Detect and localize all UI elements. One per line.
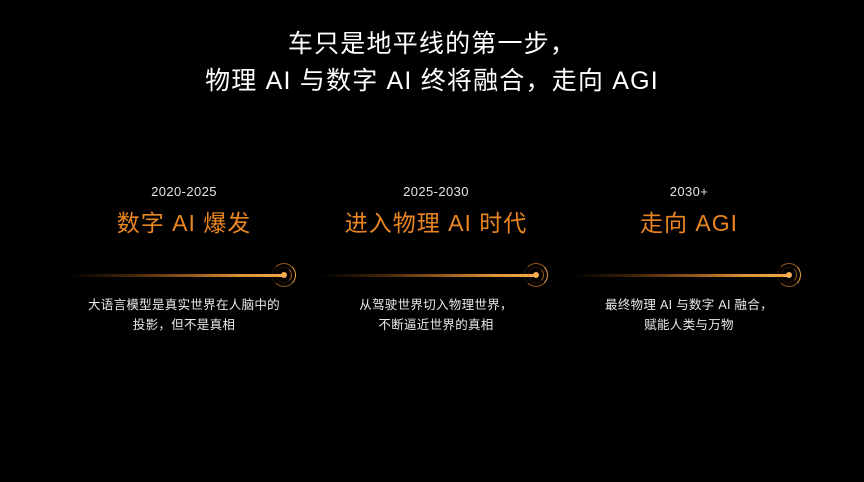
timeline-connector-3: [573, 261, 805, 291]
slide-title: 车只是地平线的第一步， 物理 AI 与数字 AI 终将融合，走向 AGI: [0, 26, 864, 100]
phase-date-2: 2025-2030: [310, 183, 562, 200]
timeline-connector-1: [68, 261, 300, 291]
timeline-node-icon-2: [522, 261, 552, 291]
timeline-phase-2: 2025-2030 进入物理 AI 时代 从驾驶世界切入物理世界， 不断逼近世界…: [310, 183, 562, 343]
title-line-1: 车只是地平线的第一步，: [0, 26, 864, 63]
timeline-line-2: [320, 274, 538, 277]
node-center-dot: [786, 272, 792, 278]
timeline: 2020-2025 数字 AI 爆发 大语言模型是真实世界在人脑中的 投影，但不…: [0, 183, 864, 343]
timeline-node-icon-3: [775, 261, 805, 291]
phase-description-1: 大语言模型是真实世界在人脑中的 投影，但不是真相: [58, 295, 310, 335]
presentation-slide: 车只是地平线的第一步， 物理 AI 与数字 AI 终将融合，走向 AGI 202…: [0, 0, 864, 482]
timeline-node-icon-1: [270, 261, 300, 291]
node-center-dot: [281, 272, 287, 278]
timeline-line-3: [573, 274, 791, 277]
timeline-line-1: [68, 274, 286, 277]
phase-date-1: 2020-2025: [58, 183, 310, 200]
timeline-connector-2: [320, 261, 552, 291]
timeline-phase-1: 2020-2025 数字 AI 爆发 大语言模型是真实世界在人脑中的 投影，但不…: [58, 183, 310, 343]
phase-description-2: 从驾驶世界切入物理世界， 不断逼近世界的真相: [310, 295, 562, 335]
phase-heading-3: 走向 AGI: [585, 207, 793, 239]
phase-description-3: 最终物理 AI 与数字 AI 融合， 赋能人类与万物: [563, 295, 815, 335]
phase-date-3: 2030+: [563, 183, 815, 200]
timeline-phase-3: 2030+ 走向 AGI 最终物理 AI 与数字 AI 融合， 赋能人类与万物: [563, 183, 815, 343]
title-line-2: 物理 AI 与数字 AI 终将融合，走向 AGI: [0, 63, 864, 100]
phase-heading-1: 数字 AI 爆发: [80, 207, 288, 239]
phase-heading-2: 进入物理 AI 时代: [332, 207, 540, 239]
node-center-dot: [533, 272, 539, 278]
